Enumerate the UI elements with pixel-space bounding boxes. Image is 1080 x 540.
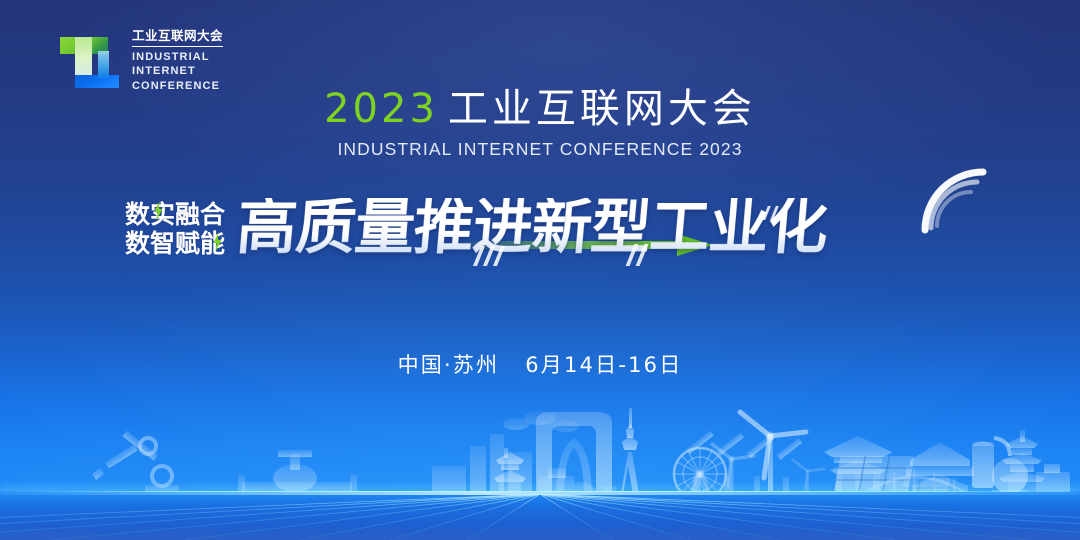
slogan-line-1: 数实融合 (125, 200, 225, 230)
title-chinese: 工业互联网大会 (448, 86, 756, 132)
page-title: 2023工业互联网大会 (0, 88, 1080, 130)
conference-title-block: 2023工业互联网大会 INDUSTRIAL INTERNET CONFEREN… (0, 88, 1080, 160)
wifi-signal-icon (915, 162, 989, 236)
logo-chinese-name: 工业互联网大会 (132, 30, 223, 47)
headline-block: 数实融合 数智赋能 (0, 176, 1080, 280)
event-meta: 中国·苏州6月14日-16日 (0, 349, 1080, 379)
lightning-bolt-icon (213, 232, 222, 252)
industrial-internet-conference-logo-icon (56, 31, 122, 93)
lightning-bolt-icon (154, 201, 163, 221)
conference-banner: 工业互联网大会 INDUSTRIAL INTERNET CONFERENCE 2… (0, 0, 1080, 540)
event-dates: 6月14日-16日 (525, 353, 682, 377)
logo-english-name: INDUSTRIAL INTERNET CONFERENCE (132, 50, 223, 94)
title-english-subtitle: INDUSTRIAL INTERNET CONFERENCE 2023 (0, 139, 1080, 160)
logo-text-block: 工业互联网大会 INDUSTRIAL INTERNET CONFERENCE (132, 30, 223, 93)
conference-logo: 工业互联网大会 INDUSTRIAL INTERNET CONFERENCE (56, 30, 223, 93)
logo-en-line-1: INDUSTRIAL (132, 50, 223, 65)
headline-slogan: 数实融合 数智赋能 (125, 200, 225, 259)
event-location: 中国·苏州 (398, 353, 500, 377)
tv-tower-icon (617, 408, 641, 500)
slogan-line-2-text: 数智赋能 (125, 229, 225, 258)
title-year: 2023 (324, 86, 438, 132)
slogan-line-1-text: 数实融合 (125, 200, 225, 229)
headline-main-text: 高质量推进新型工业化 (234, 198, 829, 258)
slogan-line-2: 数智赋能 (125, 229, 225, 259)
logo-en-line-2: INTERNET (132, 64, 223, 79)
robot-arm-icon (92, 431, 179, 495)
perspective-grid-floor (0, 492, 1080, 540)
